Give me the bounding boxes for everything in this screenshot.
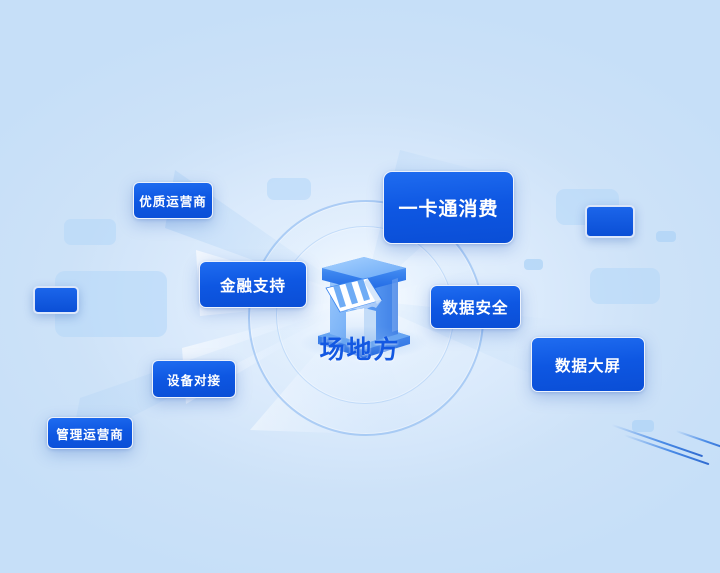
decor-rect-5 xyxy=(656,231,676,242)
decor-rect-1 xyxy=(267,178,311,200)
decor-streak-1 xyxy=(612,424,703,457)
node-card-operator[interactable]: 优质运营商 xyxy=(133,182,213,219)
node-card-label: 优质运营商 xyxy=(139,191,207,210)
decor-rect-2 xyxy=(64,219,116,245)
node-card-bigscreen[interactable]: 数据大屏 xyxy=(531,337,645,392)
infographic-canvas: 场地方 优质运营商 金融支持 一卡通消费 数据安全 数据大屏 设备对接 管理运营… xyxy=(0,0,720,573)
node-card-label: 设备对接 xyxy=(167,370,221,389)
node-card-label: 数据大屏 xyxy=(555,354,621,376)
node-card-label: 数据安全 xyxy=(442,296,508,318)
node-card-label: 一卡通消费 xyxy=(398,194,498,221)
node-card-onecard[interactable]: 一卡通消费 xyxy=(383,171,514,244)
decor-chip-right xyxy=(585,205,635,238)
node-card-device[interactable]: 设备对接 xyxy=(152,360,236,398)
node-card-label: 金融支持 xyxy=(220,274,286,296)
node-card-datasec[interactable]: 数据安全 xyxy=(430,285,521,329)
node-card-label: 管理运营商 xyxy=(56,424,124,443)
decor-rect-8 xyxy=(632,420,654,432)
node-card-finance[interactable]: 金融支持 xyxy=(199,261,307,308)
decor-rect-6 xyxy=(524,259,543,270)
node-card-manager[interactable]: 管理运营商 xyxy=(47,417,133,449)
decor-rect-7 xyxy=(590,268,660,304)
decor-chip-left xyxy=(33,286,79,314)
